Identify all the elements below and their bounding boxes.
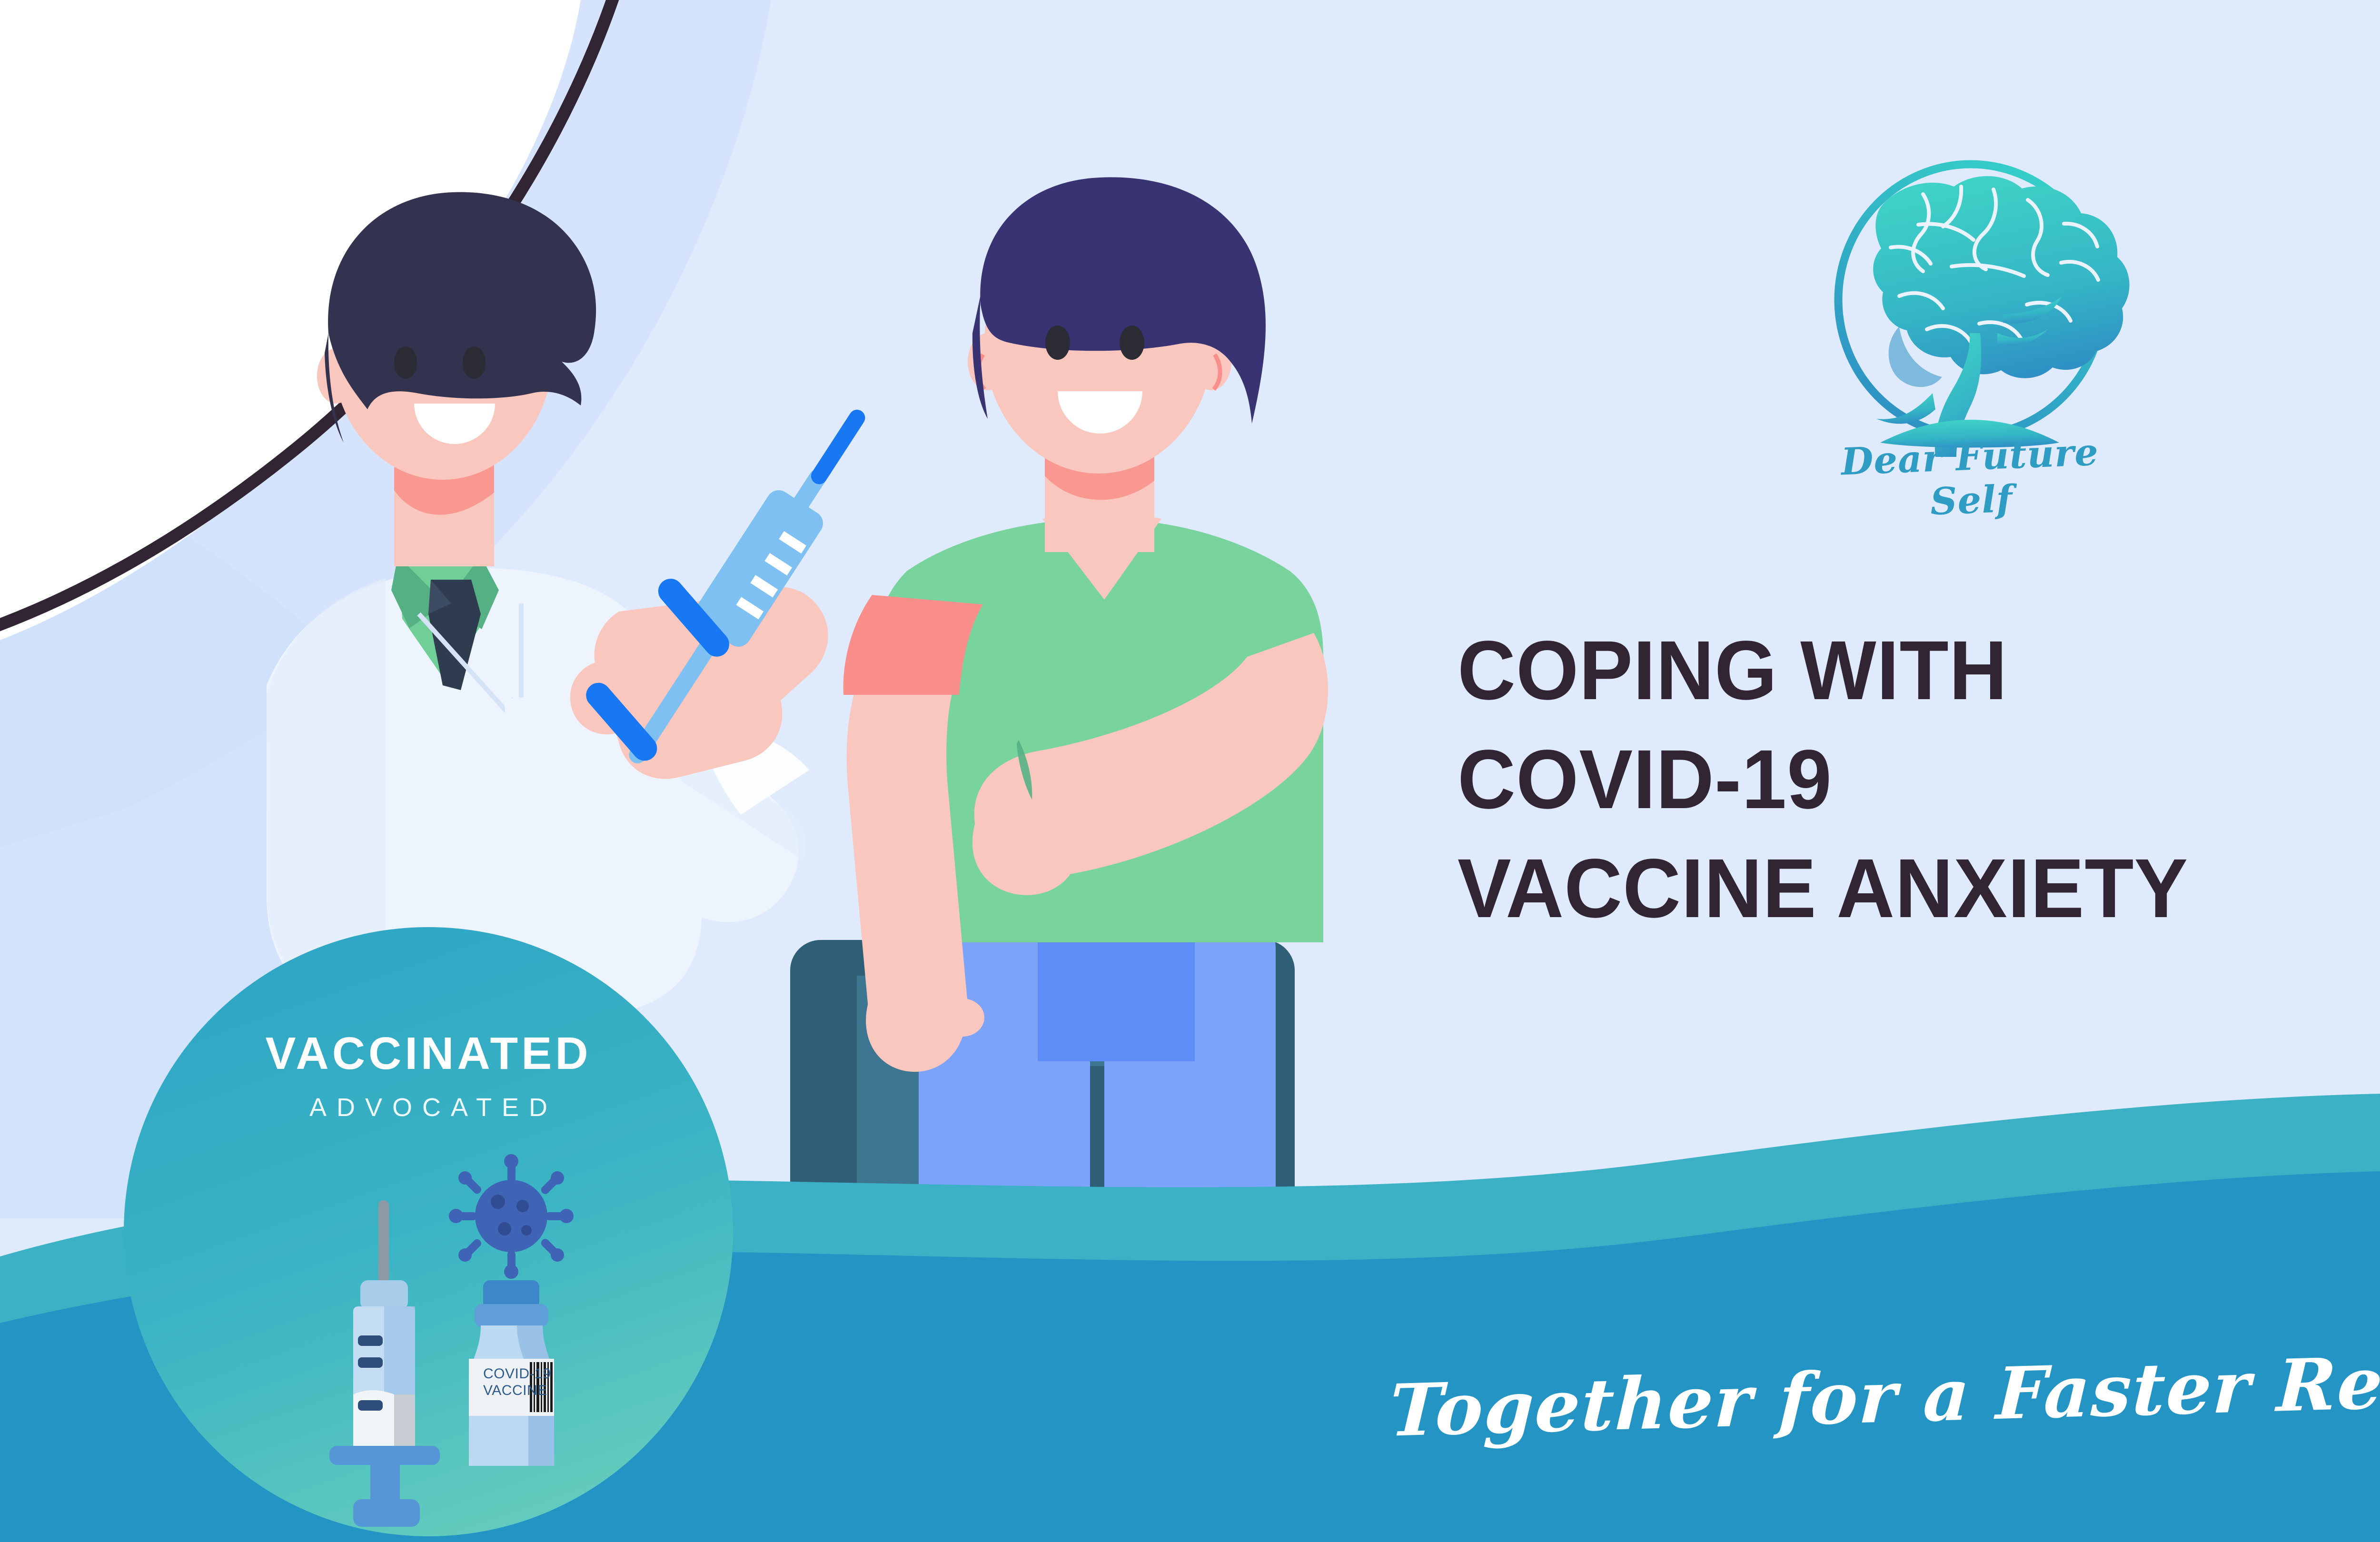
badge-subtitle: ADVOCATED <box>176 1095 681 1120</box>
page-title: COPING WITH COVID-19 VACCINE ANXIETY <box>1458 616 2380 943</box>
badge-circle <box>124 927 733 1536</box>
vial-label-line-2: VACCINE <box>483 1383 547 1399</box>
headline-line-3: VACCINE ANXIETY <box>1458 834 2380 943</box>
vaccinated-badge[interactable] <box>124 927 733 1536</box>
headline-line-2: COVID-19 <box>1458 725 2380 834</box>
headline-line-1: COPING WITH <box>1458 616 2380 725</box>
badge-coronavirus-particle-icon <box>449 1154 574 1279</box>
vial-label-line-1: COVID-19 <box>483 1366 551 1382</box>
brand-wordmark: Dear Future Self <box>1798 429 2143 529</box>
badge-title: VACCINATED <box>176 1031 681 1077</box>
poster-canvas: COPING WITH COVID-19 VACCINE ANXIETY Dea… <box>0 0 2380 1542</box>
